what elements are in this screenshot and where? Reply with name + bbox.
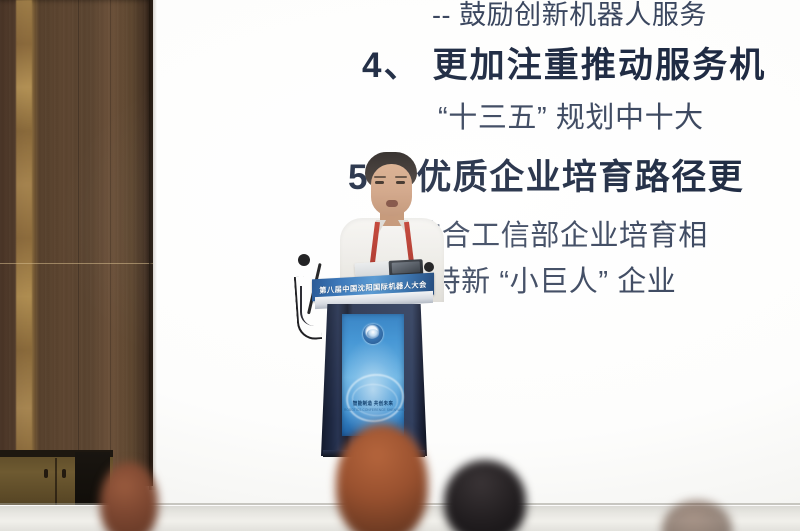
- microphone-head-left: [298, 254, 310, 266]
- speaker-eyebrow-left: [374, 176, 386, 178]
- podium-subslogan-text: ROBOTICS CONFERENCE SHENYANG: [344, 408, 402, 412]
- wood-panel-wall: [0, 0, 153, 486]
- cabinet-handle-right: [62, 469, 66, 478]
- speaker-eye-right: [396, 181, 405, 184]
- wall-seam-vertical-1: [78, 0, 79, 486]
- wall-edge-shadow: [149, 0, 157, 490]
- conference-emblem-icon: [363, 324, 383, 344]
- speaker-eye-left: [375, 181, 384, 184]
- wall-accent-strip: [16, 0, 32, 486]
- podium-slogan-text: 智能制造 共创未来: [348, 400, 398, 407]
- conference-emblem-inner: [367, 329, 379, 338]
- slide-line-2: 4、 更加注重推动服务机: [362, 48, 766, 83]
- audience-head-center: [336, 424, 428, 531]
- speaker-eyebrow-right: [395, 176, 407, 178]
- wall-seam-vertical-2: [110, 0, 111, 486]
- wall-seam-horizontal: [0, 263, 153, 264]
- slide-line-5: 结合工信部企业培育相: [412, 222, 708, 251]
- lectern-device-screen: [392, 261, 421, 273]
- slide-line-3: “十三五” 规划中十大: [438, 104, 704, 133]
- podium-front-panel: 智能制造 共创未来 ROBOTICS CONFERENCE SHENYANG: [342, 314, 404, 436]
- conference-photo-scene: -- 鼓励创新机器人服务 4、 更加注重推动服务机 “十三五” 规划中十大 5、…: [0, 0, 800, 531]
- cabinet-handle-left: [44, 469, 48, 478]
- speaker-face: [371, 164, 412, 216]
- speaker-mouth: [386, 200, 398, 207]
- microphone-cable-2: [300, 286, 318, 326]
- slide-line-1: -- 鼓励创新机器人服务: [432, 2, 707, 29]
